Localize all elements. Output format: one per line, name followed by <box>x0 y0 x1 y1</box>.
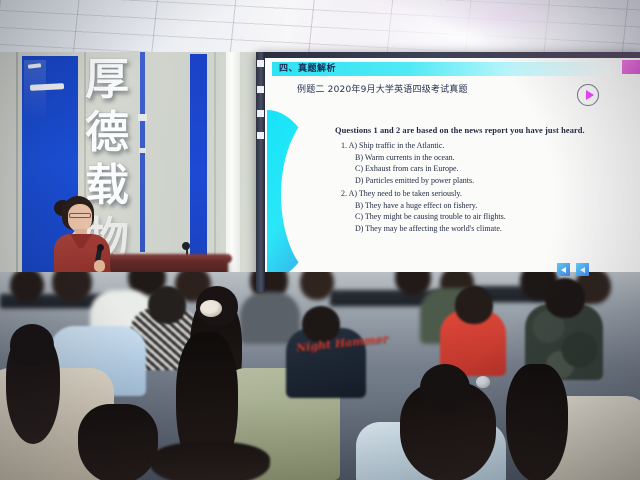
question-1-option-a: 1. A) Ship traffic in the Atlantic. <box>341 140 635 152</box>
hair-scrunchie <box>200 300 222 317</box>
question-1-option-a-text: A) Ship traffic in the Atlantic. <box>349 141 445 150</box>
arrow-left-icon <box>580 267 585 273</box>
play-audio-button[interactable] <box>577 84 599 106</box>
microphone-head <box>182 242 190 250</box>
slide-section-title: 四、真题解析 <box>279 62 336 76</box>
question-2-number: 2. <box>341 189 347 198</box>
slide-accent-block <box>622 60 640 74</box>
bezel-marker <box>257 110 264 117</box>
slide-navigation <box>557 263 589 276</box>
next-slide-button[interactable] <box>576 263 589 276</box>
question-lead-in: Questions 1 and 2 are based on the news … <box>335 126 635 135</box>
question-2-option-c: C) They might be causing trouble to air … <box>355 211 635 223</box>
student-head <box>455 286 493 324</box>
previous-slide-button[interactable] <box>557 263 570 276</box>
student-head <box>545 278 585 318</box>
question-item-1: 1. A) Ship traffic in the Atlantic. B) W… <box>335 140 635 186</box>
classroom-photo: 厚 德 载 物 四、真题解析 例题二 2020年9月大学英语四级考试真题 Que… <box>0 0 640 480</box>
student-audience: Night Hammer <box>0 272 640 480</box>
ceiling-light-glow-secondary <box>430 0 580 40</box>
lectern-top <box>104 254 232 263</box>
question-1-option-d: D) Particles emitted by power plants. <box>355 175 635 187</box>
question-1-option-c: C) Exhaust from cars in Europe. <box>355 163 635 175</box>
wall-marking <box>138 114 147 121</box>
wall-marking <box>139 148 146 153</box>
microphone-capsule <box>97 244 104 251</box>
bezel-marker <box>257 132 264 139</box>
question-2-option-b: B) They have a huge effect on fishery. <box>355 200 635 212</box>
question-2-option-d: D) They may be affecting the world's cli… <box>355 223 635 235</box>
wall-seam <box>16 52 18 297</box>
teacher-hand <box>94 260 105 272</box>
screen-top-bezel <box>256 52 640 58</box>
presentation-slide[interactable]: 四、真题解析 例题二 2020年9月大学英语四级考试真题 Questions 1… <box>265 58 640 289</box>
student-ponytail <box>78 404 158 480</box>
bezel-marker <box>257 60 264 67</box>
arrow-left-icon <box>561 267 566 273</box>
play-icon <box>586 90 594 100</box>
student-head-foreground <box>150 442 270 480</box>
student-head <box>10 272 44 302</box>
student-head <box>148 286 186 324</box>
glasses-icon <box>69 213 91 218</box>
teacher-face <box>68 204 92 232</box>
student-head <box>302 306 340 342</box>
blue-wall-stripe <box>140 52 145 252</box>
question-item-2: 2. A) They need to be taken seriously. B… <box>335 188 635 234</box>
student-head <box>10 324 54 366</box>
bezel-marker <box>257 86 264 93</box>
question-2-option-a-text: A) They need to be taken seriously. <box>349 189 462 198</box>
hair-clip <box>476 376 490 388</box>
question-block: Questions 1 and 2 are based on the news … <box>335 126 635 236</box>
student-head <box>420 364 470 412</box>
student-ponytail <box>506 364 568 480</box>
slide-subtitle: 例题二 2020年9月大学英语四级考试真题 <box>297 82 468 95</box>
question-1-option-b: B) Warm currents in the ocean. <box>355 152 635 164</box>
question-2-option-a: 2. A) They need to be taken seriously. <box>341 188 635 200</box>
question-1-number: 1. <box>341 141 347 150</box>
